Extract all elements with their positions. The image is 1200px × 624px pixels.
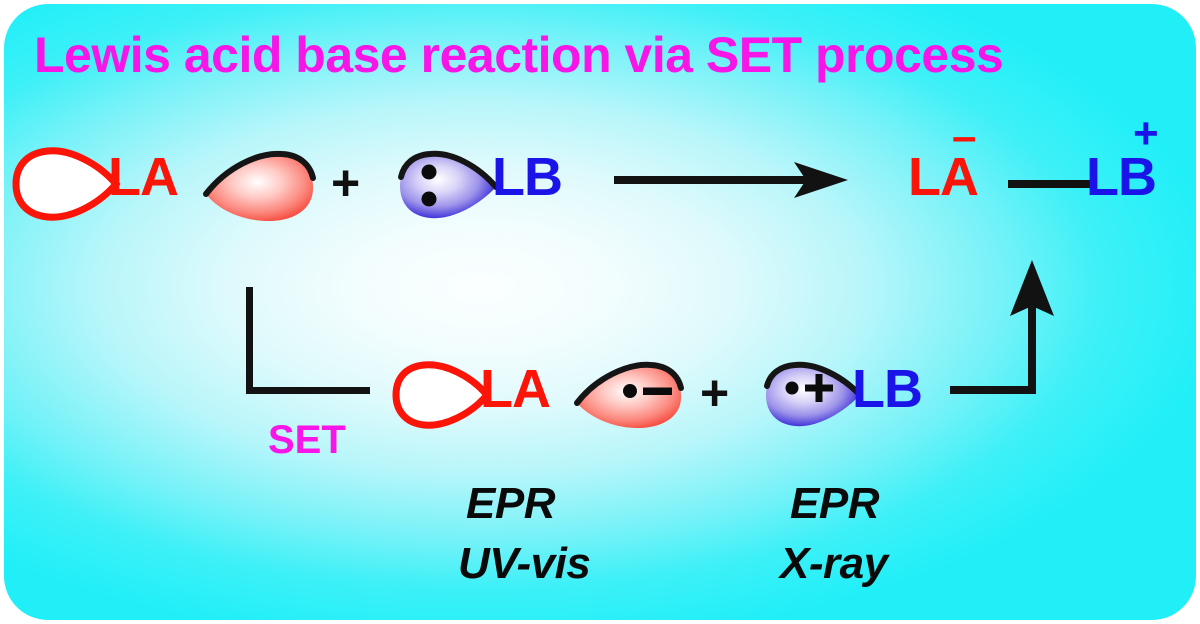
product-base-label: LB — [1086, 150, 1156, 204]
product-acid-label: LA — [908, 150, 978, 204]
graphical-abstract: Lewis acid base reaction via SET process… — [0, 0, 1200, 624]
lewis-base-lone-pair-orbital-icon — [396, 146, 502, 224]
technique-base-line2: X-ray — [780, 542, 888, 586]
product-bond-line — [1008, 180, 1092, 188]
radical-acid-label: LA — [480, 362, 550, 416]
radical-base-orbital-icon — [762, 358, 866, 432]
reaction-arrow-right-icon — [612, 158, 850, 200]
technique-acid-line1: EPR — [466, 482, 555, 526]
operator-plus-bottom: + — [700, 368, 729, 418]
radical-acid-empty-orbital-icon — [392, 358, 494, 432]
technique-base-line1: EPR — [790, 482, 879, 526]
radical-base-label: LB — [852, 362, 922, 416]
technique-acid-line2: UV-vis — [458, 542, 590, 586]
set-branch-horizontal-line — [246, 387, 370, 394]
set-branch-label: SET — [268, 420, 346, 460]
lewis-acid-label: LA — [108, 150, 178, 204]
operator-plus-top: + — [331, 158, 360, 208]
set-branch-vertical-line — [246, 287, 253, 394]
page-title: Lewis acid base reaction via SET process — [34, 30, 1003, 80]
lewis-acid-acceptor-orbital-icon — [200, 146, 318, 226]
lewis-base-label: LB — [492, 150, 562, 204]
recombination-arrow-up-icon — [950, 258, 1090, 398]
radical-acid-acceptor-orbital-icon — [572, 358, 686, 432]
